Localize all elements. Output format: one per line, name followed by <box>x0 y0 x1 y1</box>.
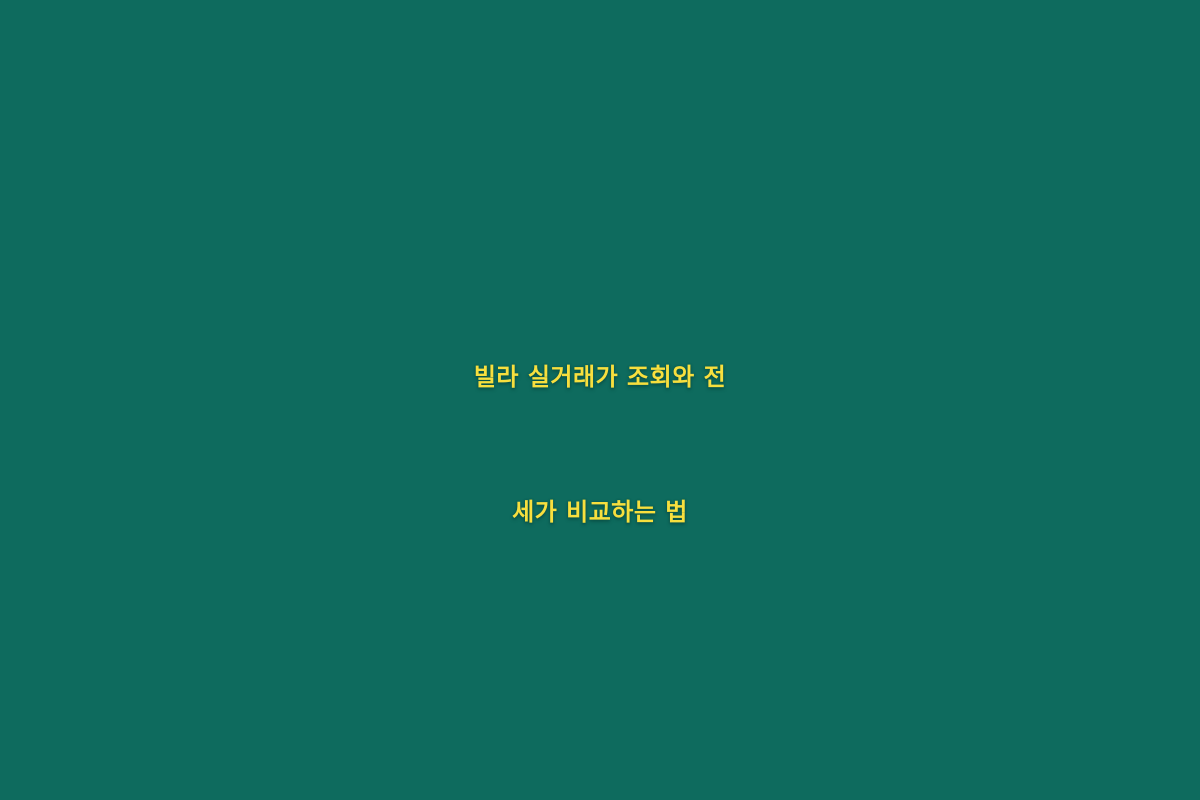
headline-block: 빌라 실거래가 조회와 전 세가 비교하는 법 <box>0 310 1200 580</box>
thumbnail-banner: 빌라 실거래가 조회와 전 세가 비교하는 법 <box>0 0 1200 800</box>
headline-line-2: 세가 비교하는 법 <box>48 445 1152 580</box>
headline-line-1: 빌라 실거래가 조회와 전 <box>48 310 1152 445</box>
